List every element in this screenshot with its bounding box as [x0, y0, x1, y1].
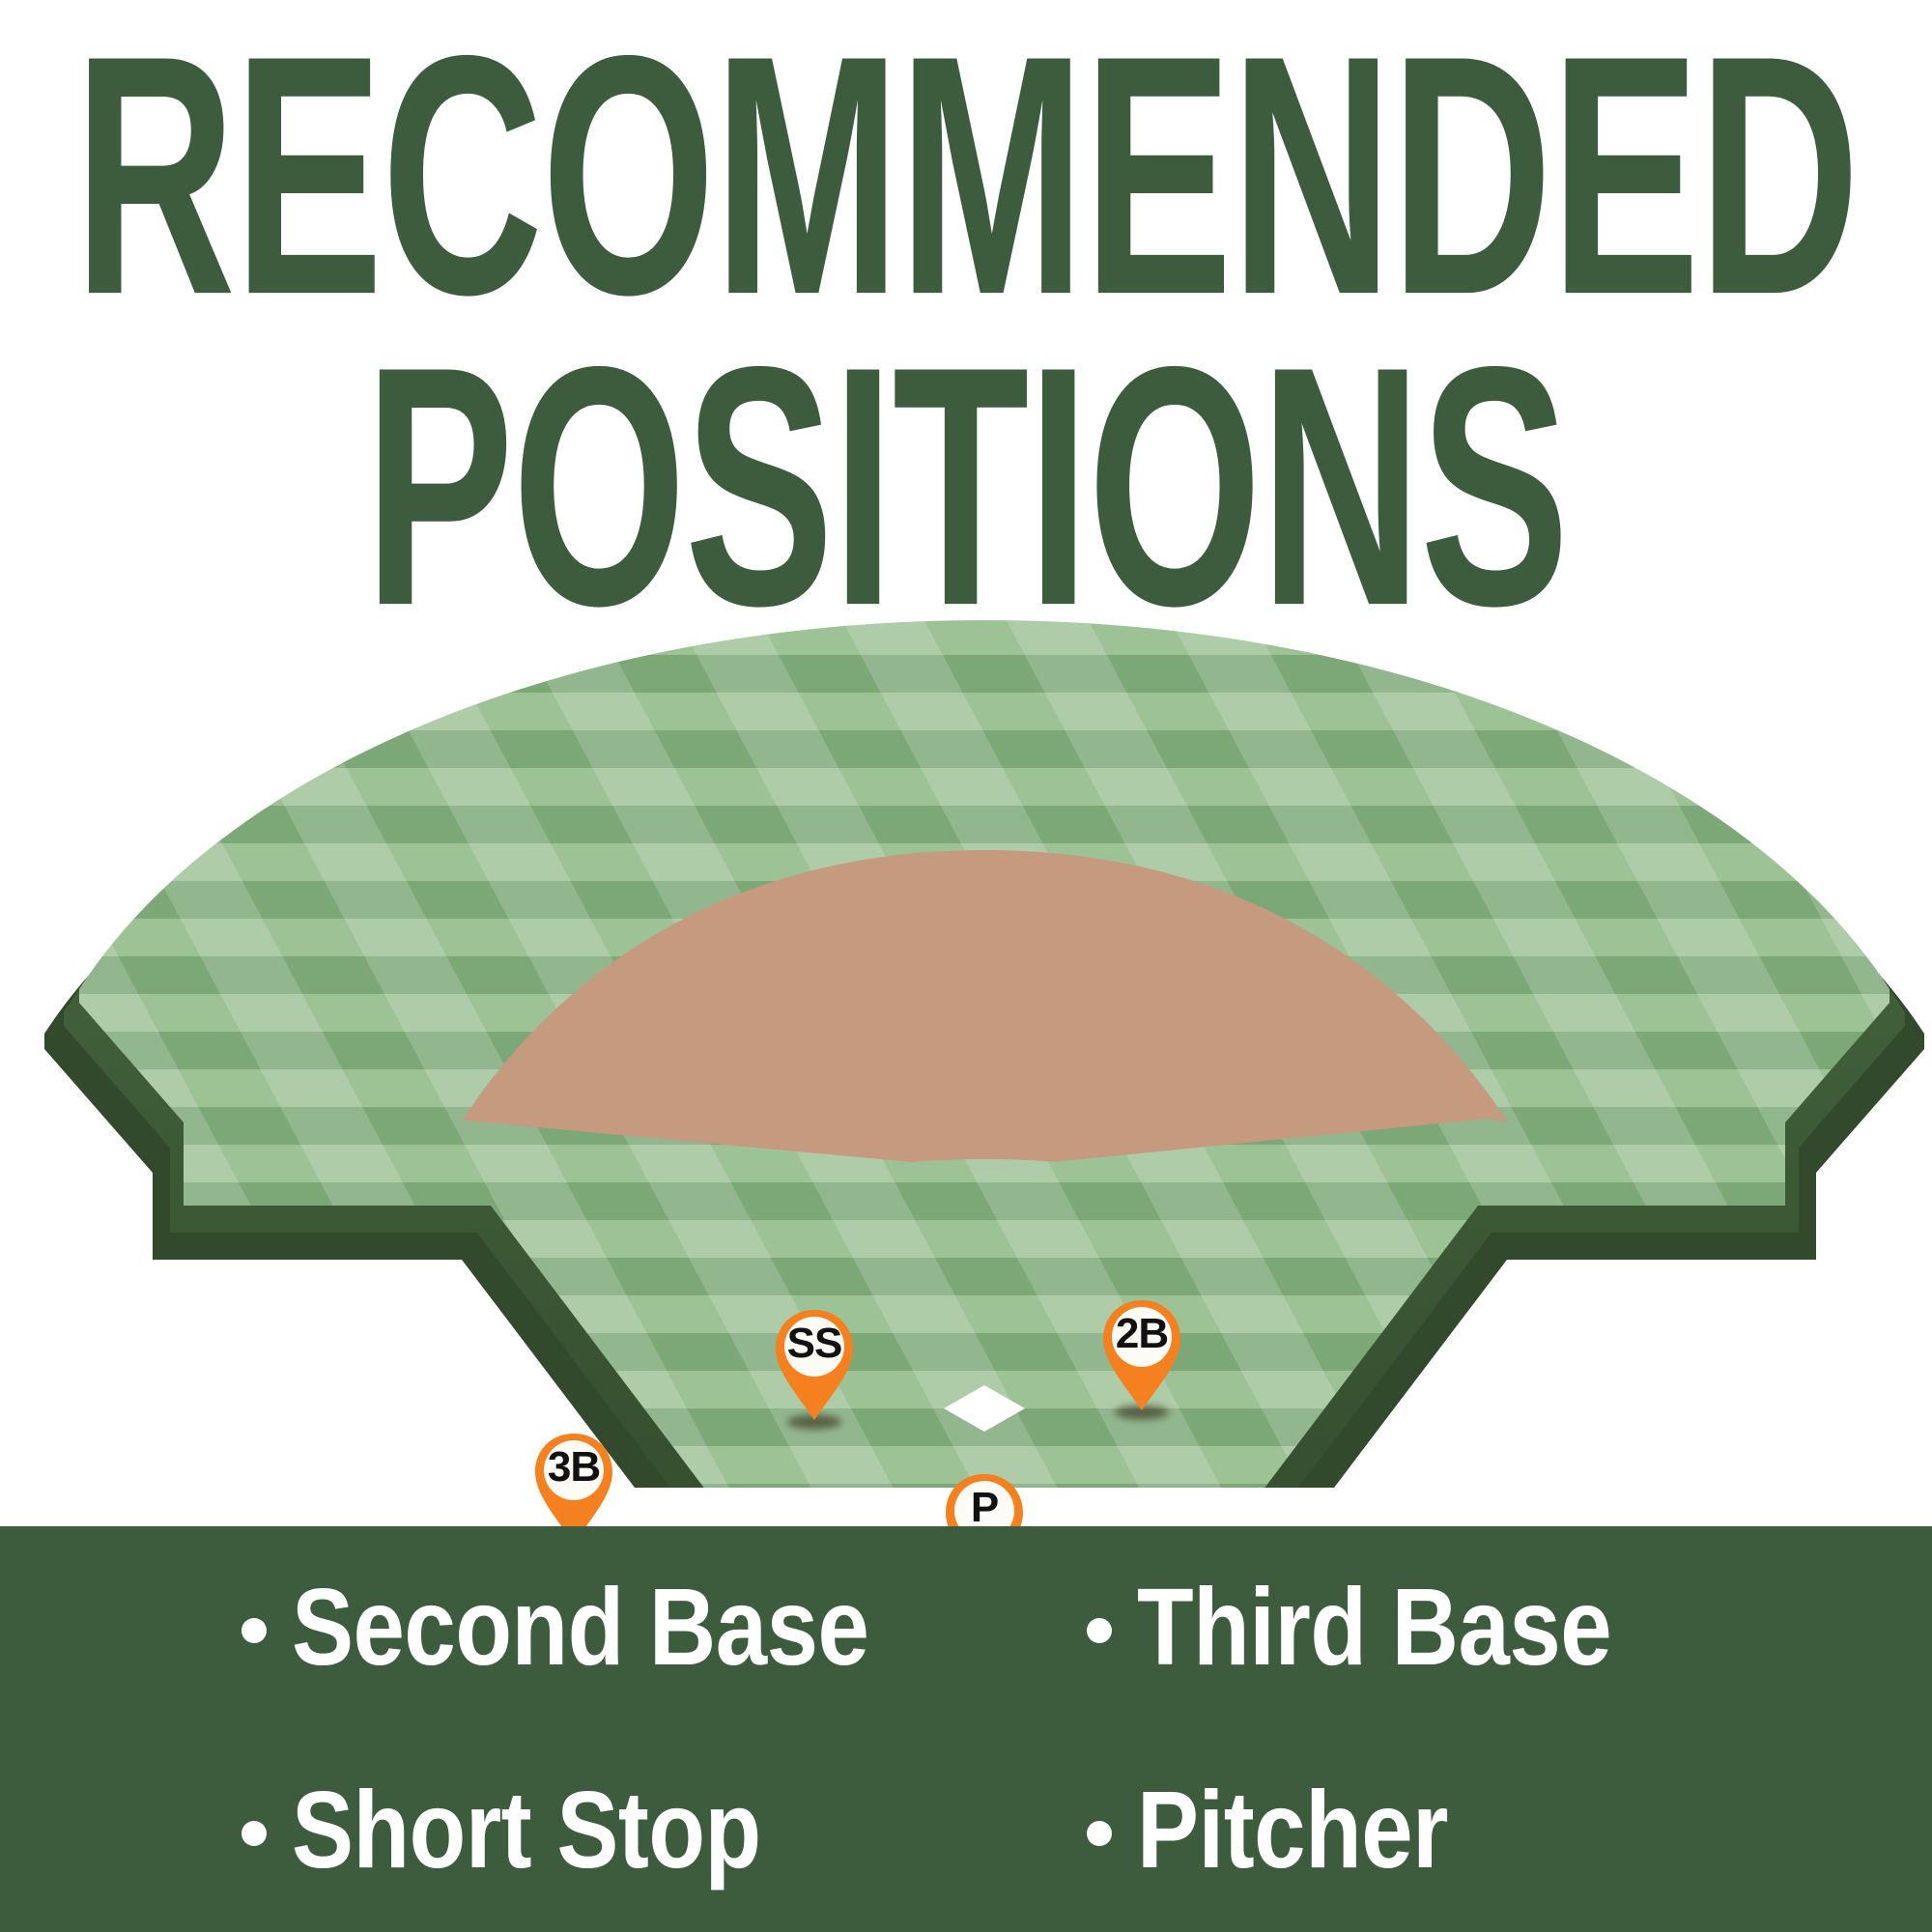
- position-marker-2b[interactable]: 2B: [1099, 1298, 1184, 1412]
- list-item-label: Second Base: [292, 1573, 868, 1682]
- list-item-label: Short Stop: [292, 1776, 761, 1885]
- position-marker-label-3b: 3B: [531, 1437, 616, 1497]
- list-item[interactable]: Pitcher: [1087, 1784, 1932, 1877]
- list-item-label: Third Base: [1137, 1573, 1611, 1682]
- position-marker-ss[interactable]: SS: [772, 1308, 857, 1422]
- position-marker-label-ss: SS: [772, 1314, 857, 1374]
- bullet-icon: [241, 1821, 267, 1846]
- baseball-field-diagram: SS 2B 3B P: [0, 580, 1932, 1488]
- field-illustration: [0, 580, 1932, 1488]
- list-item[interactable]: Third Base: [1087, 1581, 1932, 1674]
- bullet-icon: [1087, 1618, 1112, 1643]
- list-item[interactable]: Second Base: [241, 1581, 1087, 1674]
- position-marker-label-2b: 2B: [1099, 1304, 1184, 1364]
- page-title-line-1: RECOMMENDED: [0, 27, 1932, 327]
- positions-banner: Second Base Third Base Short Stop Pitche…: [0, 1526, 1932, 1932]
- list-item-label: Pitcher: [1137, 1776, 1448, 1885]
- positions-list: Second Base Third Base Short Stop Pitche…: [0, 1526, 1932, 1932]
- bullet-icon: [241, 1618, 267, 1643]
- bullet-icon: [1087, 1821, 1112, 1846]
- list-item[interactable]: Short Stop: [241, 1784, 1087, 1877]
- page-title: RECOMMENDED POSITIONS: [0, 27, 1932, 535]
